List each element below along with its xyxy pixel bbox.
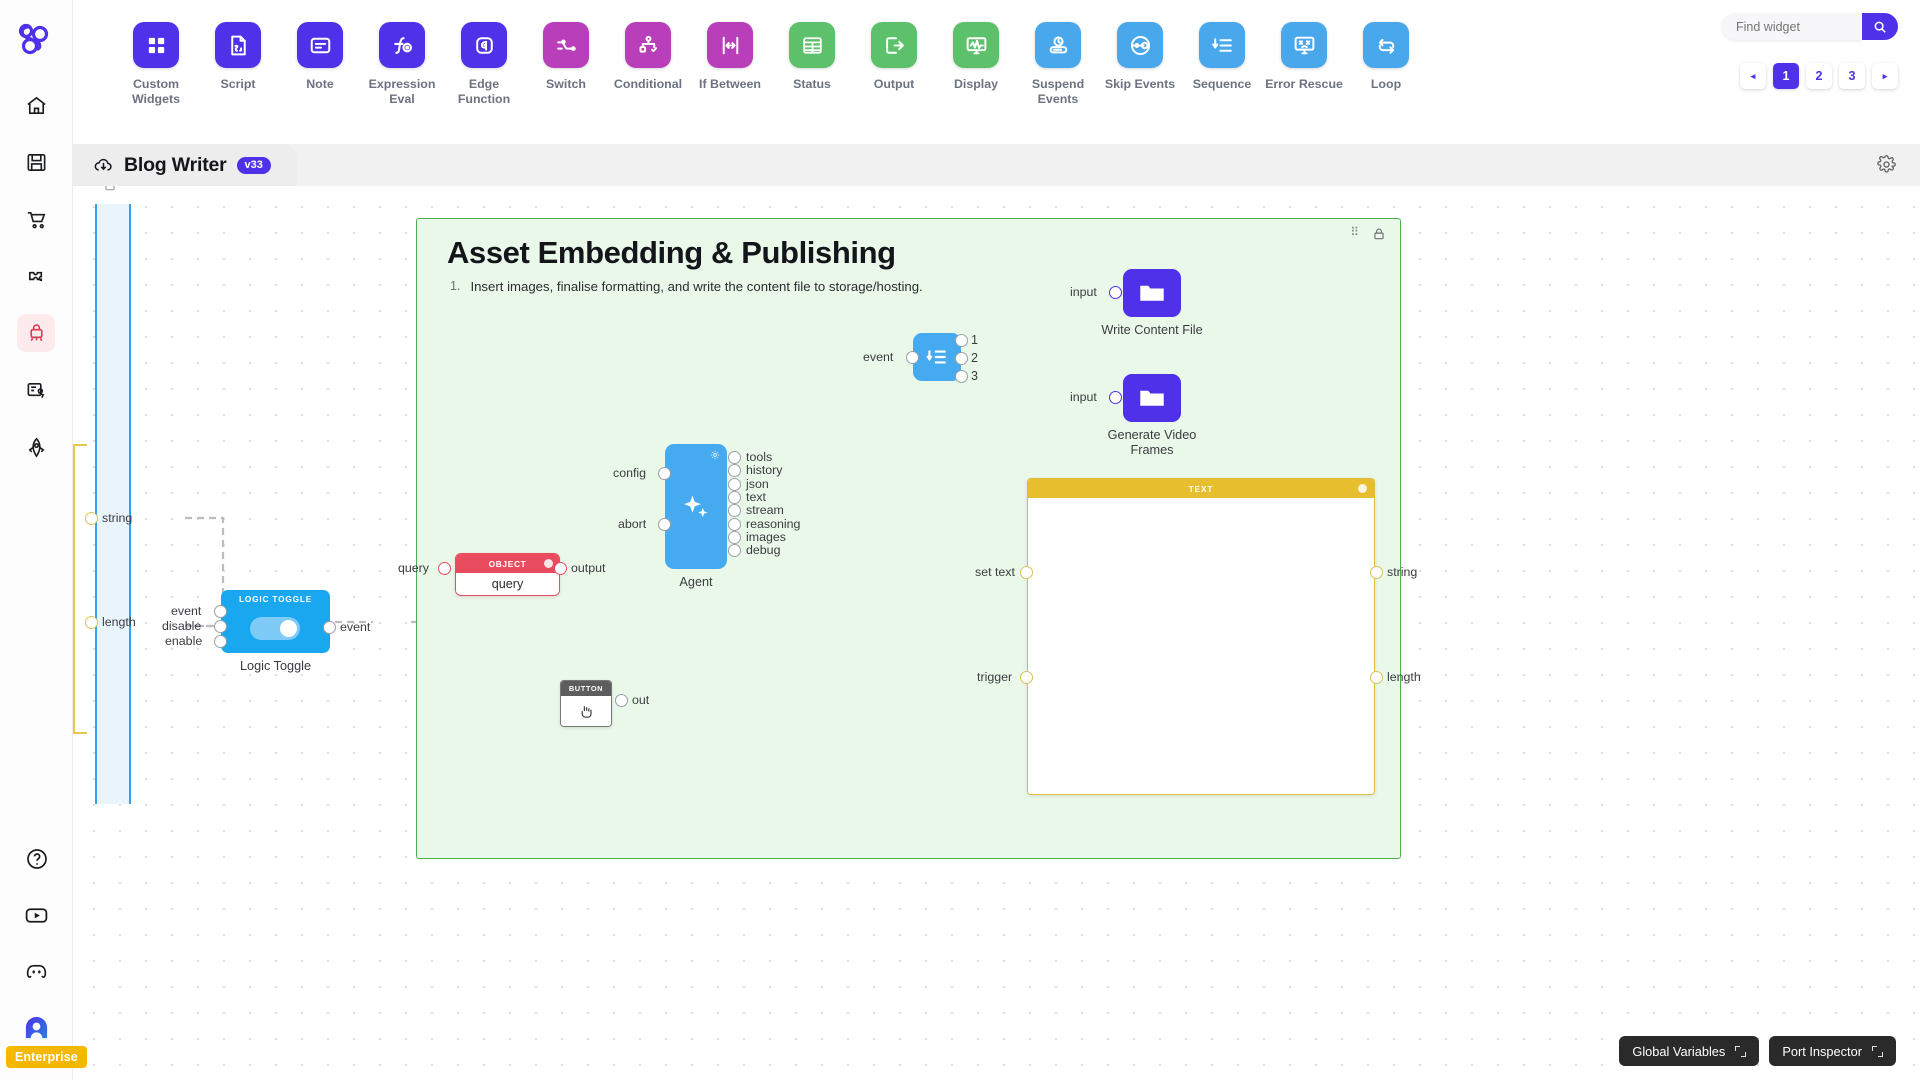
logic-toggle-input-enable-label: enable (165, 634, 202, 648)
expand-icon (1872, 1046, 1883, 1057)
sidebar-nav (17, 86, 55, 466)
object-output-port[interactable] (554, 562, 567, 575)
agent-output-images-port[interactable] (728, 531, 741, 544)
node-write-content-file[interactable]: Write Content File (1123, 269, 1227, 338)
logic-toggle-body[interactable]: LOGIC TOGGLE (221, 590, 330, 653)
node-button[interactable]: BUTTON (560, 680, 612, 727)
flow-editor: Blog Writer v33 (73, 144, 1920, 1080)
node-canvas[interactable]: string length Asset Embedding & Publishi… (73, 186, 1920, 1080)
text-input-trigger-label: trigger (977, 670, 1012, 684)
function-icon[interactable] (379, 22, 425, 68)
write-content-file-body[interactable] (1123, 269, 1181, 317)
text-input-set-text-port[interactable] (1020, 566, 1033, 579)
text-status-dot[interactable] (1358, 484, 1367, 493)
generate-video-frames-body[interactable] (1123, 374, 1181, 422)
widget-palette: Custom WidgetsScriptNoteExpression EvalE… (115, 22, 1427, 106)
lock-icon[interactable] (1372, 227, 1386, 241)
agent-output-text-port[interactable] (728, 491, 741, 504)
logic-toggle-input-disable-port[interactable] (214, 620, 227, 633)
agent-output-images-label: images (746, 530, 786, 544)
logic-toggle-input-disable-label: disable (162, 619, 201, 633)
sidebar-item-youtube[interactable] (18, 896, 56, 934)
output-icon[interactable] (871, 22, 917, 68)
text-output-string-port[interactable] (1370, 566, 1383, 579)
pagination-next[interactable]: ▸ (1872, 63, 1898, 89)
project-tab[interactable]: Blog Writer v33 (73, 144, 297, 186)
node-agent[interactable]: Agent (665, 444, 727, 590)
error-rescue-icon[interactable] (1281, 22, 1327, 68)
sidebar-item-secrets[interactable] (17, 314, 55, 352)
lane-port-length[interactable] (85, 616, 98, 629)
pagination-page-1[interactable]: 1 (1773, 63, 1799, 89)
skip-icon[interactable] (1117, 22, 1163, 68)
widget-label: Expression Eval (362, 77, 442, 106)
sidebar-item-discord[interactable] (18, 952, 56, 990)
widget-loop[interactable]: Loop (1345, 22, 1427, 106)
agent-body[interactable] (665, 444, 727, 569)
node-sequence[interactable] (913, 333, 961, 381)
left-sidebar: Enterprise (0, 0, 73, 1080)
node-generate-video-frames[interactable]: Generate Video Frames (1123, 374, 1207, 458)
gear-icon[interactable] (710, 450, 720, 460)
agent-output-json-port[interactable] (728, 478, 741, 491)
widget-display[interactable]: Display (935, 22, 1017, 106)
agent-input-config-port[interactable] (658, 467, 671, 480)
generate-video-frames-input-port[interactable] (1109, 391, 1122, 404)
status-table-icon[interactable] (789, 22, 835, 68)
cloud-upload-icon (93, 155, 114, 176)
widget-custom-widgets[interactable]: Custom Widgets (115, 22, 197, 106)
lane-yellow (73, 444, 87, 734)
logic-toggle-knob[interactable] (280, 620, 297, 637)
sidebar-item-save[interactable] (17, 143, 55, 181)
sidebar-item-deploy[interactable] (17, 428, 55, 466)
object-header: OBJECT (456, 554, 559, 573)
pagination-page-2[interactable]: 2 (1806, 63, 1832, 89)
agent-output-reasoning-port[interactable] (728, 518, 741, 531)
widget-label: Output (854, 77, 934, 92)
project-version-badge: v33 (237, 157, 271, 174)
sequence-output-1-label: 1 (971, 333, 978, 347)
lane-blue (95, 204, 131, 804)
agent-output-history-label: history (746, 463, 783, 477)
sequence-input-label: event (863, 350, 893, 364)
if-between-icon[interactable] (707, 22, 753, 68)
logic-toggle-input-enable-port[interactable] (214, 635, 227, 648)
agent-output-tools-label: tools (746, 450, 772, 464)
script-file-icon[interactable] (215, 22, 261, 68)
sequence-output-3-port[interactable] (955, 370, 968, 383)
node-caption: Logic Toggle (221, 659, 330, 674)
widget-note[interactable]: Note (279, 22, 361, 106)
text-output-string-label: string (1387, 565, 1417, 579)
agent-input-abort-port[interactable] (658, 518, 671, 531)
port-inspector-label: Port Inspector (1782, 1044, 1862, 1059)
group-title: Asset Embedding & Publishing (447, 235, 896, 271)
widget-label: Script (198, 77, 278, 92)
node-object[interactable]: OBJECT query (455, 553, 560, 596)
sequence-output-2-port[interactable] (955, 352, 968, 365)
widget-search (1722, 13, 1898, 40)
suspend-icon[interactable] (1035, 22, 1081, 68)
conditional-icon[interactable] (625, 22, 671, 68)
sequence-icon (924, 344, 950, 370)
object-header-label: OBJECT (489, 559, 527, 569)
switch-icon[interactable] (543, 22, 589, 68)
logic-toggle-input-event-port[interactable] (214, 605, 227, 618)
display-icon[interactable] (953, 22, 999, 68)
button-output-label: out (632, 693, 649, 707)
agent-output-stream-label: stream (746, 503, 784, 517)
pagination-page-3[interactable]: 3 (1839, 63, 1865, 89)
group-description: Insert images, finalise formatting, and … (470, 279, 922, 294)
node-caption: Agent (665, 575, 727, 590)
widget-label: Skip Events (1100, 77, 1180, 92)
button-output-port[interactable] (615, 694, 628, 707)
node-logic-toggle[interactable]: LOGIC TOGGLE Logic Toggle (221, 590, 330, 674)
logic-toggle-output-event-label: event (340, 620, 370, 634)
widget-label: Display (936, 77, 1016, 92)
widget-skip-events[interactable]: Skip Events (1099, 22, 1181, 106)
widget-toolbar: Custom WidgetsScriptNoteExpression EvalE… (73, 0, 1920, 144)
agent-output-json-label: json (746, 477, 769, 491)
gear-icon[interactable] (1877, 155, 1896, 174)
text-header: TEXT (1028, 479, 1374, 498)
sidebar-item-library[interactable] (17, 371, 55, 409)
widget-error-rescue[interactable]: Error Rescue (1263, 22, 1345, 106)
widget-suspend-events[interactable]: Suspend Events (1017, 22, 1099, 106)
sparkle-icon (679, 490, 713, 524)
object-output-label: output (571, 561, 605, 575)
widget-label: Edge Function (444, 77, 524, 106)
folder-icon (1136, 277, 1168, 309)
logic-toggle-output-event-port[interactable] (323, 621, 336, 634)
widget-conditional[interactable]: Conditional (607, 22, 689, 106)
text-output-length-port[interactable] (1370, 671, 1383, 684)
sidebar-item-home[interactable] (17, 86, 55, 124)
sidebar-item-account[interactable] (18, 1008, 56, 1046)
sequence-input-port[interactable] (906, 351, 919, 364)
sequence-output-2-label: 2 (971, 351, 978, 365)
agent-output-debug-port[interactable] (728, 544, 741, 557)
object-input-query-port[interactable] (438, 562, 451, 575)
project-title: Blog Writer (124, 154, 227, 177)
sidebar-item-help[interactable] (18, 840, 56, 878)
brand-logo[interactable] (10, 14, 62, 66)
search-button[interactable] (1862, 13, 1898, 40)
widget-label: Switch (526, 77, 606, 92)
pagination-prev[interactable]: ◂ (1740, 63, 1766, 89)
enterprise-badge: Enterprise (6, 1046, 87, 1068)
lane-label-string: string (102, 511, 132, 525)
lane-label-length: length (102, 615, 136, 629)
folder-icon (1136, 382, 1168, 414)
group-description-row: 1. Insert images, finalise formatting, a… (450, 279, 923, 294)
expand-icon (1735, 1046, 1746, 1057)
widget-label: Sequence (1182, 77, 1262, 92)
widget-script[interactable]: Script (197, 22, 279, 106)
node-caption: Generate Video Frames (1097, 428, 1207, 458)
widget-label: Loop (1346, 77, 1426, 92)
object-input-query-label: query (398, 561, 429, 575)
pagination: ◂123▸ (1740, 63, 1898, 89)
object-status-dot[interactable] (544, 559, 553, 568)
drag-handle-icon[interactable]: ⠿ (1350, 229, 1360, 236)
sidebar-item-store[interactable] (17, 200, 55, 238)
sequence-body[interactable] (913, 333, 961, 381)
widget-label: Custom Widgets (116, 77, 196, 106)
agent-output-debug-label: debug (746, 543, 780, 557)
logic-toggle-input-event-label: event (171, 604, 201, 618)
sequence-output-3-label: 3 (971, 369, 978, 383)
note-icon[interactable] (297, 22, 343, 68)
widget-output[interactable]: Output (853, 22, 935, 106)
text-input-set-text-label: set text (975, 565, 1015, 579)
agent-input-config-label: config (613, 466, 646, 480)
lock-icon[interactable] (103, 186, 117, 192)
generate-video-frames-input-label: input (1070, 390, 1097, 404)
cursor-click-icon (578, 703, 595, 720)
node-text[interactable]: TEXT (1027, 478, 1375, 795)
text-output-length-label: length (1387, 670, 1421, 684)
lane-port-string[interactable] (85, 512, 98, 525)
search-input[interactable] (1722, 13, 1862, 40)
widget-label: Note (280, 77, 360, 92)
button-header: BUTTON (561, 681, 611, 696)
widget-label: Error Rescue (1264, 77, 1344, 92)
widget-if-between[interactable]: If Between (689, 22, 771, 106)
widget-label: Status (772, 77, 852, 92)
widget-edge-function[interactable]: Edge Function (443, 22, 525, 106)
loop-icon[interactable] (1363, 22, 1409, 68)
agent-input-abort-label: abort (618, 517, 646, 531)
group-step-number: 1. (450, 279, 460, 294)
widget-expression-eval[interactable]: Expression Eval (361, 22, 443, 106)
widget-switch[interactable]: Switch (525, 22, 607, 106)
agent-output-tools-port[interactable] (728, 451, 741, 464)
sidebar-item-plugins[interactable] (17, 257, 55, 295)
object-field[interactable]: query (456, 573, 559, 595)
canvas-footer-actions: Global Variables Port Inspector (1619, 1036, 1896, 1066)
agent-output-text-label: text (746, 490, 766, 504)
sidebar-bottom-nav (0, 840, 73, 1046)
widget-label: Conditional (608, 77, 688, 92)
logic-toggle-header: LOGIC TOGGLE (221, 590, 330, 607)
project-bar: Blog Writer v33 (73, 144, 1920, 186)
agent-output-reasoning-label: reasoning (746, 517, 800, 531)
write-content-file-input-port[interactable] (1109, 286, 1122, 299)
port-inspector-button[interactable]: Port Inspector (1769, 1036, 1896, 1066)
global-variables-label: Global Variables (1632, 1044, 1725, 1059)
widget-status[interactable]: Status (771, 22, 853, 106)
text-header-label: TEXT (1189, 484, 1214, 494)
grid-icon[interactable] (133, 22, 179, 68)
widget-label: Suspend Events (1018, 77, 1098, 106)
logic-toggle-switch[interactable] (250, 617, 300, 640)
widget-label: If Between (690, 77, 770, 92)
sequence-output-1-port[interactable] (955, 334, 968, 347)
button-click-area[interactable] (561, 696, 611, 726)
global-variables-button[interactable]: Global Variables (1619, 1036, 1759, 1066)
text-input-trigger-port[interactable] (1020, 671, 1033, 684)
text-editor-area[interactable] (1028, 498, 1374, 795)
node-caption: Write Content File (1077, 323, 1227, 338)
write-content-file-input-label: input (1070, 285, 1097, 299)
edge-function-icon[interactable] (461, 22, 507, 68)
sequence-icon[interactable] (1199, 22, 1245, 68)
widget-sequence[interactable]: Sequence (1181, 22, 1263, 106)
